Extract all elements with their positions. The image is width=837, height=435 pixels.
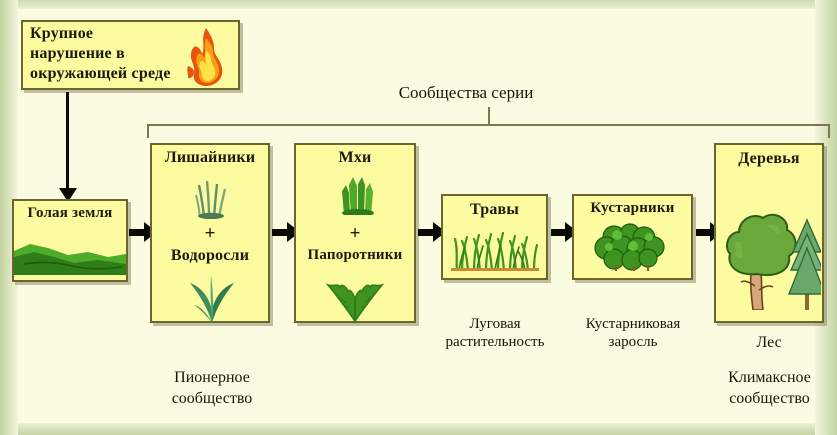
shrub-icon bbox=[586, 221, 682, 276]
series-header-label: Сообщества серии bbox=[336, 83, 596, 103]
algae-icon bbox=[186, 273, 238, 328]
climax-community-label-line2: сообщество bbox=[702, 390, 837, 409]
lichens-plus-sign: + bbox=[152, 223, 268, 245]
disturbance-label-line3: окружающей среде bbox=[30, 66, 171, 83]
stage-box-lichens-algae[interactable]: Лишайники + Водоросли bbox=[150, 143, 270, 323]
shrubs-label: Кустарники bbox=[574, 201, 691, 217]
tree-icon bbox=[721, 190, 821, 315]
mosses-plus-sign: + bbox=[296, 223, 414, 245]
disturbance-box[interactable]: Крупное нарушение в окружающей среде bbox=[21, 20, 240, 90]
pioneer-community-label-line1: Пионерное bbox=[137, 369, 287, 388]
climax-community-label-line1: Климаксное bbox=[702, 369, 837, 388]
algae-label: Водоросли bbox=[152, 248, 268, 265]
arrow-disturbance-to-bare-shaft bbox=[66, 92, 69, 190]
stage-box-mosses-ferns[interactable]: Мхи + Папоротники bbox=[294, 143, 416, 323]
grasses-label: Травы bbox=[443, 202, 546, 219]
disturbance-label-line2: нарушение в bbox=[30, 46, 125, 63]
shrubland-caption-line1: Кустарниковая bbox=[560, 316, 706, 334]
shrubland-caption-line2: заросль bbox=[560, 334, 706, 352]
bare-ground-hills-icon bbox=[14, 233, 126, 280]
slide-frame-bottom bbox=[0, 423, 837, 435]
ferns-label: Папоротники bbox=[296, 248, 414, 264]
meadow-caption-line1: Луговая bbox=[427, 316, 563, 334]
pioneer-community-label-line2: сообщество bbox=[137, 390, 287, 409]
lichens-label: Лишайники bbox=[152, 150, 268, 167]
forest-caption: Лес bbox=[714, 334, 824, 353]
trees-label: Деревья bbox=[716, 151, 822, 168]
bare-ground-box[interactable]: Голая земля bbox=[12, 199, 128, 282]
fern-icon bbox=[324, 273, 386, 328]
series-bracket bbox=[147, 124, 830, 138]
fire-icon bbox=[176, 26, 228, 93]
meadow-caption-line2: растительность bbox=[420, 334, 570, 352]
stage-box-shrubs[interactable]: Кустарники bbox=[572, 194, 693, 280]
lichen-icon bbox=[190, 175, 234, 224]
series-bracket-stem bbox=[488, 107, 490, 125]
moss-icon bbox=[336, 175, 380, 220]
mosses-label: Мхи bbox=[296, 150, 414, 167]
succession-diagram-slide: Крупное нарушение в окружающей среде Соо… bbox=[0, 0, 837, 435]
bare-ground-label: Голая земля bbox=[14, 206, 126, 222]
grass-icon bbox=[451, 225, 539, 276]
stage-box-grasses[interactable]: Травы bbox=[441, 194, 548, 280]
slide-frame-top bbox=[0, 0, 837, 9]
stage-box-trees[interactable]: Деревья bbox=[714, 143, 824, 323]
disturbance-label-line1: Крупное bbox=[30, 26, 93, 43]
